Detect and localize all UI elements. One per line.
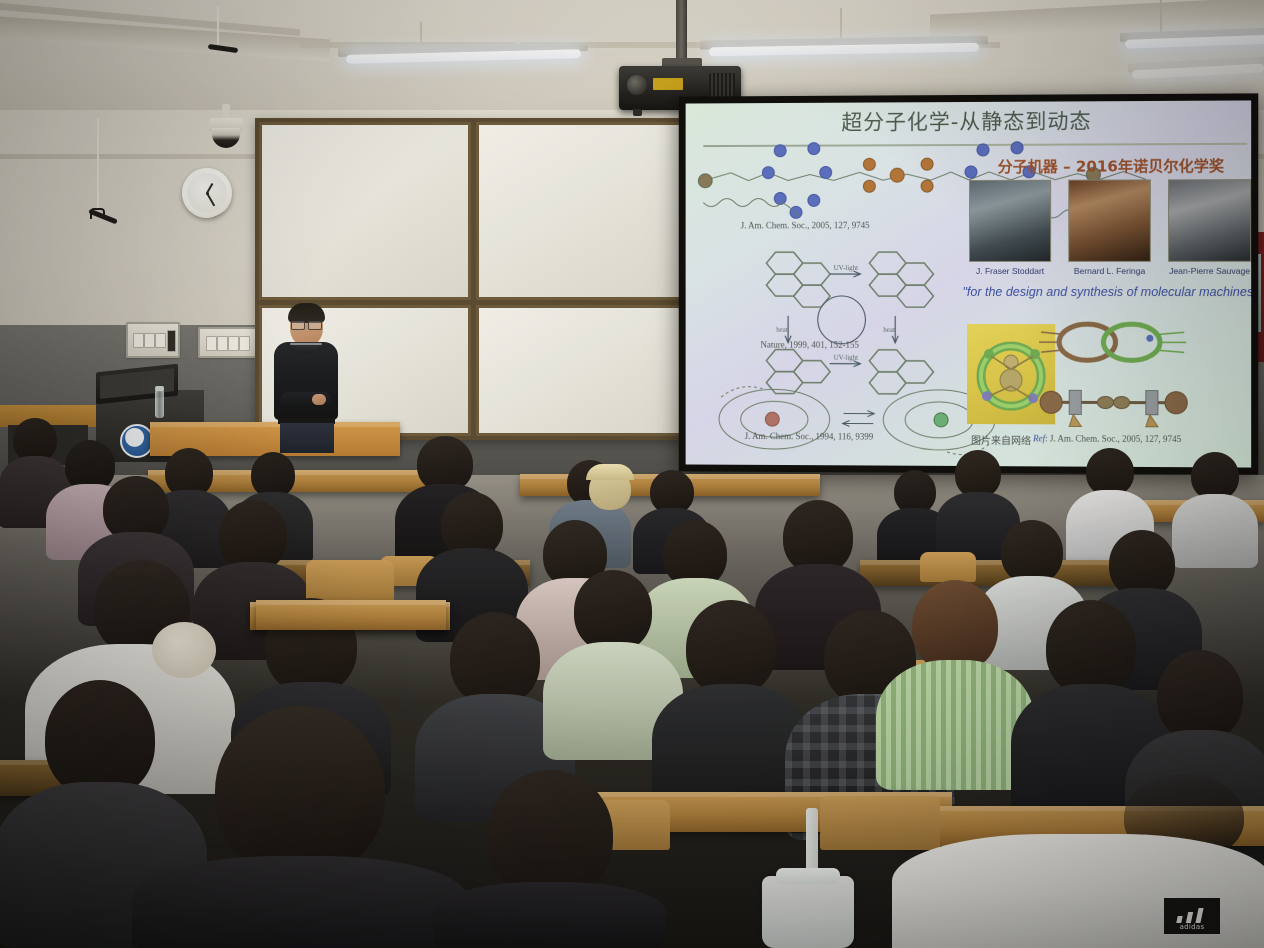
reference-prefix: Ref (1033, 433, 1045, 443)
nobel-citation-quote: "for the design and synthesis of molecul… (959, 285, 1251, 301)
student-head (955, 450, 1001, 498)
laureate-photo (969, 180, 1051, 262)
uv-light-label-1: UV-light (834, 264, 858, 272)
wall-switch-panel-left[interactable] (126, 322, 180, 358)
student-in-green-stripe (880, 580, 1030, 790)
laureate-card: J. Fraser Stoddart (969, 180, 1051, 276)
laureate-card: Jean-Pierre Sauvage (1168, 179, 1251, 276)
light-rod-2 (840, 8, 842, 40)
laureate-portraits: J. Fraser Stoddart Bernard L. Feringa Je… (969, 179, 1251, 276)
presenter-collar-stripe (290, 343, 322, 345)
student-head (215, 706, 385, 876)
slide-title-rule (703, 143, 1247, 147)
student-head (783, 500, 853, 574)
student (440, 770, 660, 948)
whiteboard-panel (259, 122, 471, 300)
laureate-card: Bernard L. Feringa (1068, 179, 1151, 276)
microphone-head (88, 208, 118, 224)
lecture-hall-photo: 超分子化学-从静态到动态 (0, 0, 1264, 948)
heat-label-1: heat (776, 326, 788, 334)
wall-clock (182, 168, 232, 218)
cap-brim (586, 464, 634, 480)
switch-key[interactable] (133, 333, 144, 348)
reference-text: : J. Am. Chem. Soc., 2005, 127, 9745 (1045, 433, 1181, 444)
student-head (574, 570, 652, 652)
student-head (45, 680, 155, 798)
slide-section-heading: 分子机器 – 2016年诺贝尔化学奖 (975, 155, 1247, 177)
presenter-trousers (280, 423, 334, 453)
water-bottle (155, 390, 164, 418)
citation-catenane: J. Am. Chem. Soc., 1994, 116, 9399 (745, 431, 874, 442)
microphone-head (208, 40, 238, 56)
whiteboard-panel (476, 122, 688, 300)
drinking-straw (806, 808, 818, 874)
student-in-adidas-jacket: adidas (900, 800, 1264, 948)
student (656, 600, 806, 810)
switch-key[interactable] (217, 336, 228, 351)
presentation-slide: 超分子化学-从静态到动态 (686, 100, 1252, 467)
laureate-name: J. Fraser Stoddart (969, 266, 1051, 276)
student-head (686, 600, 776, 696)
student-head (1157, 650, 1243, 742)
laureate-photo (1168, 179, 1251, 262)
student-head (1046, 600, 1136, 696)
hanging-microphone-3 (216, 6, 218, 44)
switch-socket[interactable] (167, 330, 176, 352)
adidas-wordmark: adidas (1180, 923, 1205, 931)
citation-motor: Nature, 1999, 401, 152-155 (760, 340, 858, 350)
hanging-microphone-1 (96, 118, 98, 208)
laureate-name: Jean-Pierre Sauvage (1168, 266, 1251, 276)
student-with-cap (578, 462, 642, 528)
switch-key[interactable] (144, 333, 155, 348)
tumbler-lid (776, 868, 840, 884)
student-body (434, 882, 666, 948)
clock-face (187, 173, 227, 213)
light-rod-3 (1160, 0, 1162, 32)
student-head (450, 612, 540, 706)
switch-key[interactable] (155, 333, 166, 348)
projector-lens (627, 75, 647, 95)
uv-light-label-2: UV-light (834, 354, 858, 362)
citation-rotaxane: J. Am. Chem. Soc., 2005, 127, 9745 (741, 220, 870, 230)
presenter-hand (312, 394, 326, 405)
clock-hub (206, 192, 209, 195)
student-desk (256, 600, 446, 630)
switch-key[interactable] (239, 336, 250, 351)
projector-foot-left (633, 109, 642, 116)
student-head (1001, 520, 1063, 584)
laureate-photo (1068, 179, 1151, 262)
rotaxane-3d-graphic (967, 324, 1055, 424)
student-foreground (140, 706, 460, 948)
clock-minute-hand (206, 193, 215, 207)
room-background: 超分子化学-从静态到动态 (0, 0, 1264, 948)
presenter-hair (288, 303, 325, 323)
adidas-logo: adidas (1164, 898, 1220, 934)
student-head (1086, 448, 1134, 496)
wall-switch-panel-right[interactable] (198, 327, 260, 358)
heat-label-2: heat (883, 326, 895, 334)
hair-scrunchie (152, 622, 216, 678)
image-source-note: 图片来自网络 (971, 432, 1031, 447)
projector-label (653, 78, 683, 90)
presenter (270, 306, 342, 451)
slide-title: 超分子化学-从静态到动态 (686, 104, 1252, 137)
student-head (487, 770, 613, 900)
chair-back (920, 552, 976, 582)
laureate-name: Bernard L. Feringa (1068, 266, 1151, 276)
student-head (912, 580, 998, 672)
water-tumbler[interactable] (762, 876, 854, 948)
adidas-bars-icon (1175, 908, 1209, 923)
rotaxane-3d-image (967, 324, 1055, 424)
projection-screen: 超分子化学-从静态到动态 (679, 93, 1259, 474)
light-rod-1 (420, 22, 422, 48)
student-body (132, 856, 468, 948)
projector-pole (676, 0, 687, 62)
switch-key[interactable] (228, 336, 239, 351)
whiteboard-panel (476, 305, 688, 437)
switch-key[interactable] (206, 336, 217, 351)
slide-reference: Ref: J. Am. Chem. Soc., 2005, 127, 9745 (1033, 433, 1181, 444)
presenter-glasses (291, 321, 322, 328)
student-head (1191, 452, 1239, 500)
